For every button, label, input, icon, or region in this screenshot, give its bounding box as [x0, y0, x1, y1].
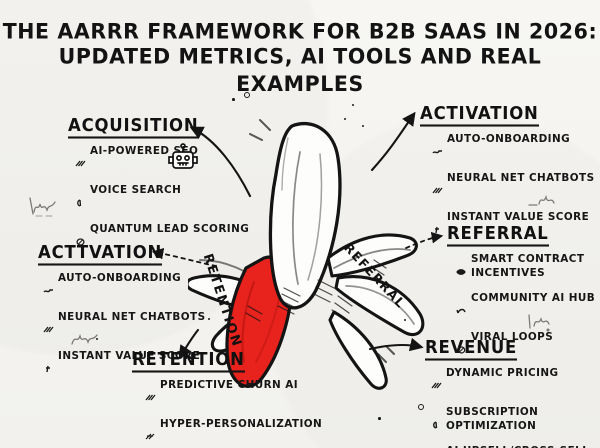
section-heading-activation-left: ACTTVATION	[38, 242, 162, 265]
speck	[208, 318, 210, 320]
list-item: AUTO-ONBOARDING	[42, 272, 206, 308]
section-revenue: REVENUE DYNAMIC PRICING SUBSCRIPTION OPT…	[425, 338, 600, 448]
doodle-mark-icon	[431, 133, 444, 169]
doodle-mark-icon	[144, 418, 157, 448]
doodle-mark-icon	[430, 367, 443, 403]
doodle-mark-icon	[144, 379, 157, 415]
infographic-poster: THE AARRR FRAMEWORK FOR B2B SAAS IN 2026…	[0, 0, 600, 448]
doodle-mark-icon	[455, 253, 468, 289]
list-item-label: PREDICTIVE CHURN AI	[160, 379, 298, 393]
list-item-label: NEURAL NET CHATBOTS	[58, 311, 206, 325]
list-item: SMART CONTRACT INCENTIVES	[455, 253, 595, 289]
list-item: COMMUNITY AI HUB	[455, 292, 595, 328]
speck	[244, 92, 250, 98]
doodle-mark-icon	[42, 311, 55, 347]
doodle-mark-icon	[455, 292, 468, 328]
list-item: AI-POWERED SEO	[74, 145, 249, 181]
list-item-label: QUANTUM LEAD SCORING	[90, 223, 249, 237]
speck	[418, 404, 424, 410]
list-item: VOICE SEARCH	[74, 184, 249, 220]
scribble-doodle-left	[28, 196, 68, 222]
section-heading-referral: REFERRAL	[447, 223, 549, 246]
section-list-retention: PREDICTIVE CHURN AI HYPER-PERSONALIZATIO…	[144, 379, 322, 448]
doodle-mark-icon	[42, 350, 55, 386]
section-heading-activation-right: ACTIVATION	[420, 103, 539, 126]
section-heading-retention: RETENTION	[132, 349, 245, 372]
list-item: HYPER-PERSONALIZATION	[144, 418, 322, 448]
doodle-mark-icon	[74, 145, 87, 181]
doodle-mark-icon	[431, 172, 444, 208]
title-line-1: THE AARRR FRAMEWORK FOR B2B SAAS IN 2026…	[0, 17, 600, 45]
speck	[378, 417, 381, 420]
list-item: SUBSCRIPTION OPTIMIZATION	[430, 406, 600, 442]
list-item: PREDICTIVE CHURN AI	[144, 379, 322, 415]
section-heading-revenue: REVENUE	[425, 337, 517, 360]
speck	[232, 98, 235, 101]
robot-head-icon	[166, 142, 200, 180]
list-item: AUTO-ONBOARDING	[431, 133, 595, 169]
section-retention: RETENTION PREDICTIVE CHURN AI HYPER-PERS…	[132, 350, 322, 448]
list-item: NEURAL NET CHATBOTS	[431, 172, 595, 208]
section-list-revenue: DYNAMIC PRICING SUBSCRIPTION OPTIMIZATIO…	[430, 367, 600, 448]
list-item-label: SMART CONTRACT INCENTIVES	[471, 253, 584, 281]
list-item-label: VOICE SEARCH	[90, 184, 181, 198]
list-item-label: SUBSCRIPTION OPTIMIZATION	[446, 406, 600, 434]
doodle-mark-icon	[430, 406, 443, 442]
list-item-label: COMMUNITY AI HUB	[471, 292, 595, 306]
list-item-label: AUTO-ONBOARDING	[58, 272, 181, 286]
section-acquisition: ACQUISITION AI-POWERED SEO VOICE SEARCH …	[68, 116, 249, 262]
list-item: DYNAMIC PRICING	[430, 367, 600, 403]
doodle-mark-icon	[42, 272, 55, 308]
list-item-label: DYNAMIC PRICING	[446, 367, 559, 381]
doodle-mark-icon	[431, 211, 444, 247]
list-item-label: NEURAL NET CHATBOTS	[447, 172, 595, 186]
section-heading-acquisition: ACQUISITION	[68, 115, 199, 138]
list-item: NEURAL NET CHATBOTS	[42, 311, 206, 347]
list-item-label: AUTO-ONBOARDING	[447, 133, 570, 147]
list-item-label: HYPER-PERSONALIZATION	[160, 418, 322, 432]
speck	[362, 125, 364, 127]
doodle-mark-icon	[74, 184, 87, 220]
